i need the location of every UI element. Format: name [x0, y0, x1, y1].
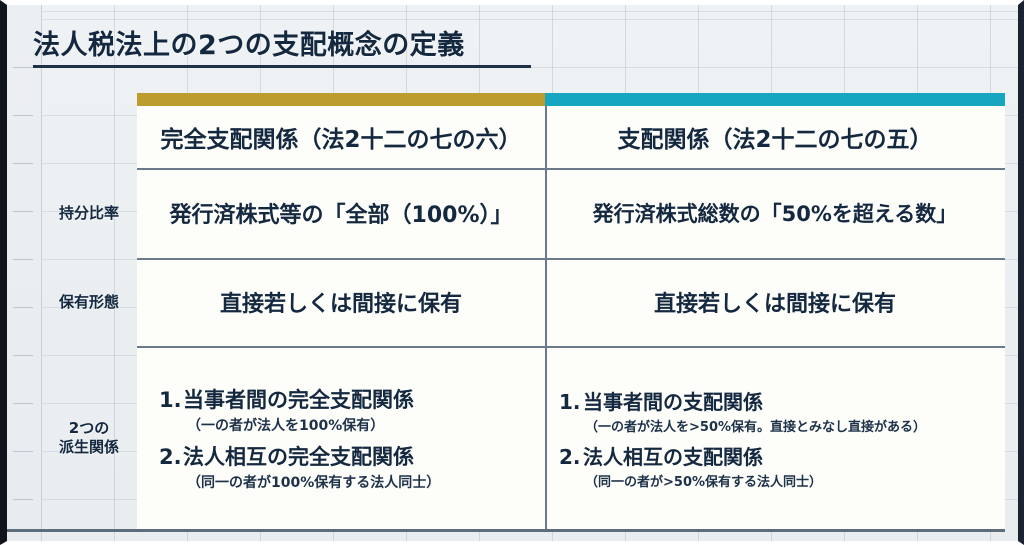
- slide-canvas: 法人税法上の2つの支配概念の定義 持分比率 保有形態 2つの 派生関係: [0, 0, 1024, 545]
- list-item: 1.当事者間の支配関係 （一の者が法人を>50%保有。直接とみなし直接がある）: [559, 386, 1005, 435]
- cell-text-ownership-ratio-left: 発行済株式等の「全部（100%）」: [137, 168, 545, 258]
- table-row: 発行済株式等の「全部（100%）」 発行済株式総数の「50%を超える数」: [137, 168, 1005, 258]
- slide-inner: 法人税法上の2つの支配概念の定義 持分比率 保有形態 2つの 派生関係: [7, 5, 1018, 541]
- list-item: 1.当事者間の完全支配関係 （一の者が法人を100%保有）: [159, 384, 545, 435]
- derived-right-item1-main: 1.当事者間の支配関係: [559, 386, 1005, 415]
- derived-right-item2-main: 2.法人相互の支配関係: [559, 441, 1005, 470]
- row-label-column: 持分比率 保有形態 2つの 派生関係: [41, 93, 137, 529]
- table-row: 1.当事者間の完全支配関係 （一の者が法人を100%保有） 2.法人相互の完全支…: [137, 346, 1005, 529]
- derived-left-item1-sub: （一の者が法人を100%保有）: [187, 415, 545, 435]
- table-row: 直接若しくは間接に保有 直接若しくは間接に保有: [137, 258, 1005, 346]
- table-bottom-rule: [7, 529, 1005, 532]
- derived-left-item1-number: 1.: [159, 388, 183, 412]
- derived-left-item2-main: 2.法人相互の完全支配関係: [159, 441, 545, 471]
- derived-right-item1-sub: （一の者が法人を>50%保有。直接とみなし直接がある）: [585, 416, 1005, 435]
- comparison-table: 完全支配関係（法2十二の七の六） 支配関係（法2十二の七の五） 発行済株式等の「…: [137, 93, 1005, 529]
- cell-ownership-ratio-left: 発行済株式等の「全部（100%）」: [137, 168, 545, 258]
- row-label-ownership-ratio: 持分比率: [41, 168, 137, 258]
- header-cell-control: 支配関係（法2十二の七の五）: [545, 106, 1005, 168]
- derived-left-item1-main: 1.当事者間の完全支配関係: [159, 384, 545, 414]
- derived-left-item2-sub: （同一の者が100%保有する法人同士）: [187, 472, 545, 492]
- derived-right-item2-sub: （同一の者が>50%保有する法人同士）: [585, 471, 1005, 490]
- accent-bar-right: [545, 93, 1005, 106]
- derived-right-item1-text: 当事者間の支配関係: [583, 390, 763, 414]
- table-header-row: 完全支配関係（法2十二の七の六） 支配関係（法2十二の七の五）: [137, 106, 1005, 168]
- accent-bar: [137, 93, 1005, 106]
- title-underline: [33, 65, 531, 68]
- list-item: 2.法人相互の完全支配関係 （同一の者が100%保有する法人同士）: [159, 441, 545, 492]
- cell-text-ownership-ratio-right: 発行済株式総数の「50%を超える数」: [545, 168, 1005, 258]
- derived-list-right: 1.当事者間の支配関係 （一の者が法人を>50%保有。直接とみなし直接がある） …: [545, 346, 1005, 529]
- derived-right-item2-number: 2.: [559, 445, 583, 469]
- row-divider-2: [137, 258, 1005, 260]
- row-label-derived-line2: 派生関係: [59, 438, 119, 457]
- row-gutter: [7, 5, 42, 541]
- cell-text-holding-form-left: 直接若しくは間接に保有: [137, 258, 545, 346]
- cell-holding-form-left: 直接若しくは間接に保有: [137, 258, 545, 346]
- row-label-derived-relations: 2つの 派生関係: [41, 346, 137, 529]
- cell-ownership-ratio-right: 発行済株式総数の「50%を超える数」: [545, 168, 1005, 258]
- row-label-holding-form: 保有形態: [41, 258, 137, 346]
- row-divider-3: [137, 346, 1005, 348]
- cell-text-holding-form-right: 直接若しくは間接に保有: [545, 258, 1005, 346]
- derived-list-left: 1.当事者間の完全支配関係 （一の者が法人を100%保有） 2.法人相互の完全支…: [137, 346, 545, 529]
- cell-derived-right: 1.当事者間の支配関係 （一の者が法人を>50%保有。直接とみなし直接がある） …: [545, 346, 1005, 529]
- row-divider-1: [137, 168, 1005, 170]
- accent-bar-left: [137, 93, 545, 106]
- page-title-block: 法人税法上の2つの支配概念の定義: [33, 23, 531, 68]
- derived-left-item2-number: 2.: [159, 445, 183, 469]
- row-label-derived-line1: 2つの: [59, 419, 119, 438]
- header-label-control: 支配関係（法2十二の七の五）: [545, 106, 1005, 168]
- cell-derived-left: 1.当事者間の完全支配関係 （一の者が法人を100%保有） 2.法人相互の完全支…: [137, 346, 545, 529]
- derived-left-item2-text: 法人相互の完全支配関係: [183, 445, 414, 469]
- header-cell-full-control: 完全支配関係（法2十二の七の六）: [137, 106, 545, 168]
- page-title: 法人税法上の2つの支配概念の定義: [33, 23, 531, 62]
- header-label-full-control: 完全支配関係（法2十二の七の六）: [137, 106, 545, 168]
- cell-holding-form-right: 直接若しくは間接に保有: [545, 258, 1005, 346]
- derived-left-item1-text: 当事者間の完全支配関係: [183, 388, 414, 412]
- list-item: 2.法人相互の支配関係 （同一の者が>50%保有する法人同士）: [559, 441, 1005, 490]
- row-label-spacer: [41, 93, 137, 168]
- derived-right-item1-number: 1.: [559, 390, 583, 414]
- derived-right-item2-text: 法人相互の支配関係: [583, 445, 763, 469]
